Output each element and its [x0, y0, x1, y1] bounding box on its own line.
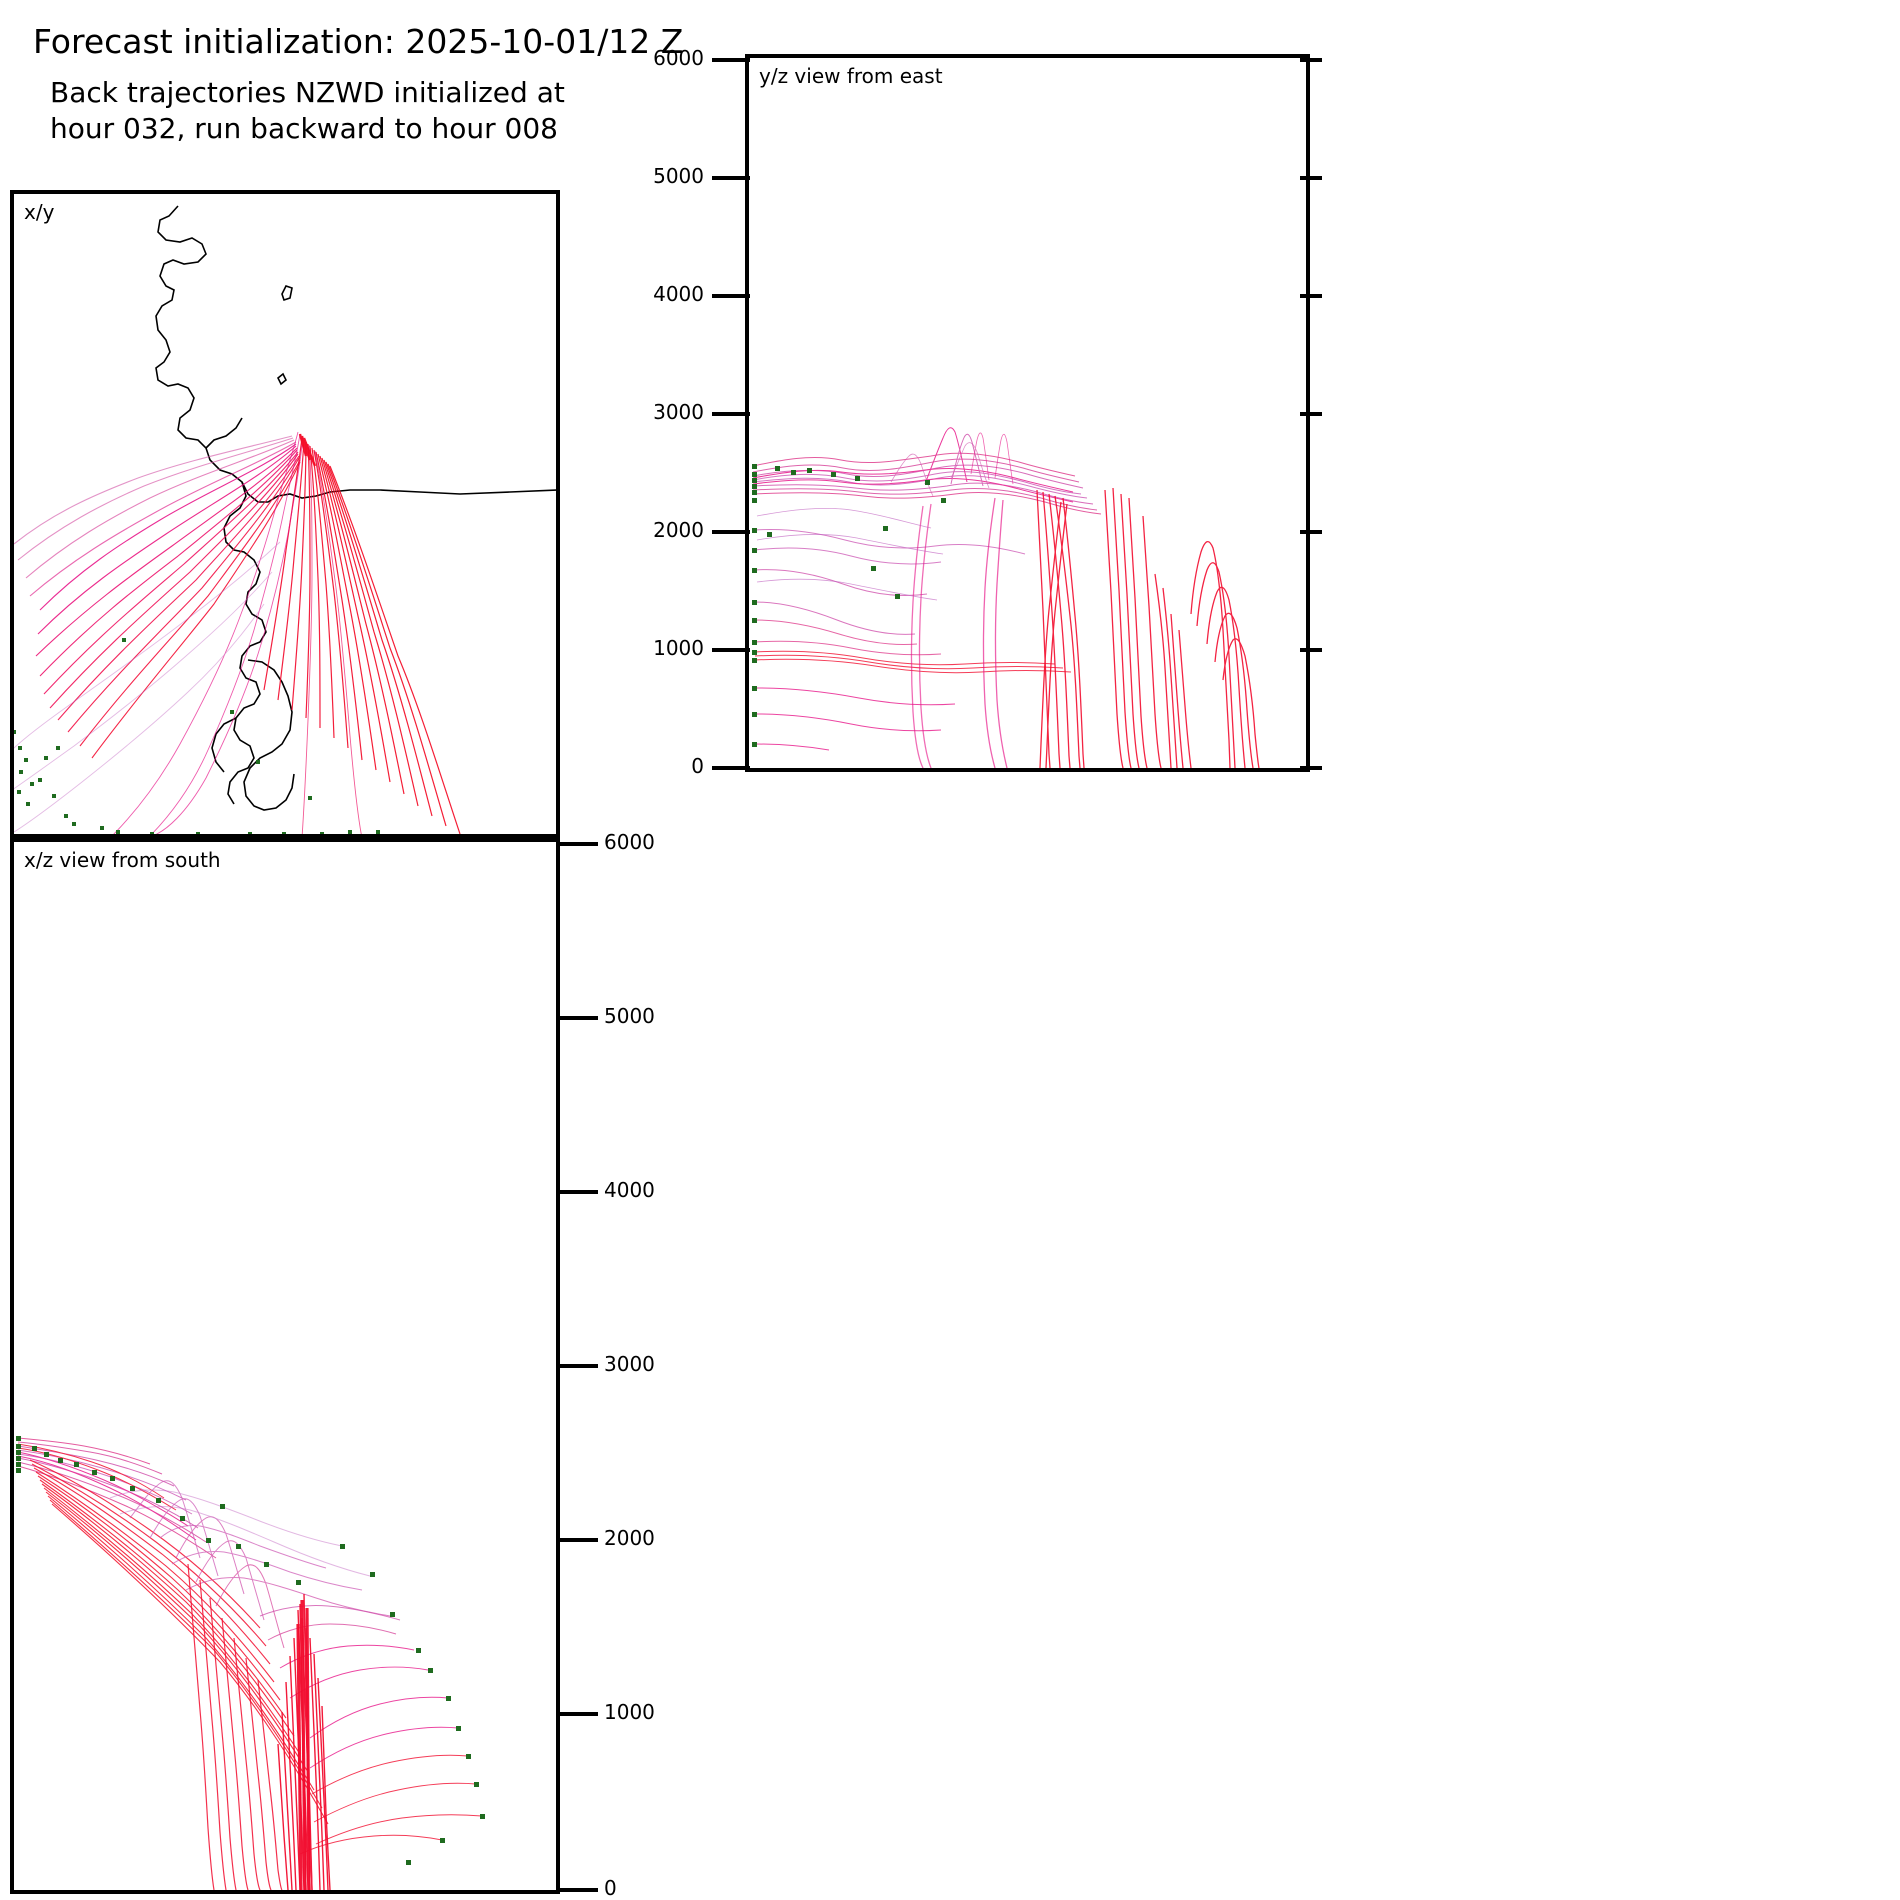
page-title: Forecast initialization: 2025-10-01/12 Z: [33, 22, 683, 61]
xz-tick-2000: [560, 1538, 598, 1542]
xz-ticklabel-3000: 3000: [604, 1352, 680, 1376]
xz-ticklabel-4000: 4000: [604, 1178, 680, 1202]
yz-tick-6000: [712, 58, 750, 62]
xz-ticklabel-0: 0: [604, 1876, 680, 1900]
xz-ticklabel-5000: 5000: [604, 1004, 680, 1028]
xz-tick-5000: [560, 1016, 598, 1020]
yz-ticklabel-0: 0: [620, 754, 704, 778]
yz-right-tick-2000: [1300, 530, 1322, 534]
yz-y-axis: 6000 5000 4000 3000 2000 1000 0: [620, 54, 750, 774]
xz-tick-3000: [560, 1364, 598, 1368]
yz-tick-3000: [712, 412, 750, 416]
yz-ticklabel-5000: 5000: [620, 164, 704, 188]
panel-yz-view-from-east[interactable]: y/z view from east: [745, 54, 1310, 772]
xz-y-axis: 6000 5000 4000 3000 2000 1000 0: [560, 838, 700, 1896]
panel-label-xy: x/y: [24, 200, 54, 224]
xz-ticklabel-1000: 1000: [604, 1700, 680, 1724]
xz-ticklabel-6000: 6000: [604, 830, 680, 854]
panel-label-xz: x/z view from south: [24, 848, 221, 872]
panel-label-yz: y/z view from east: [759, 64, 943, 88]
yz-right-tick-5000: [1300, 176, 1322, 180]
xz-tick-4000: [560, 1190, 598, 1194]
endpoint-markers: [12, 638, 380, 836]
panel-xz-view-from-south[interactable]: x/z view from south: [10, 838, 560, 1894]
yz-tick-2000: [712, 530, 750, 534]
panel-xy-plan-view[interactable]: x/y: [10, 190, 560, 838]
xz-tick-6000: [560, 842, 598, 846]
trajectory-bundle-southwest: [14, 436, 300, 758]
subtitle-line-1: Back trajectories NZWD initialized at: [50, 76, 565, 109]
yz-right-tick-0: [1300, 766, 1322, 770]
xz-tick-1000: [560, 1712, 598, 1716]
figure-canvas: Forecast initialization: 2025-10-01/12 Z…: [0, 0, 1900, 1900]
yz-tick-4000: [712, 294, 750, 298]
yz-tick-0: [712, 766, 750, 770]
subtitle-line-2: hour 032, run backward to hour 008: [50, 112, 558, 145]
yz-ticklabel-4000: 4000: [620, 282, 704, 306]
yz-upper-band: [753, 428, 1101, 514]
yz-wisps: [757, 433, 1013, 600]
xz-descending-bundle: [30, 1460, 328, 1824]
xy-trajectory-plot: [10, 190, 560, 838]
yz-right-tick-3000: [1300, 412, 1322, 416]
yz-tick-1000: [712, 648, 750, 652]
yz-plunge-structures: [912, 488, 1260, 768]
yz-right-tick-4000: [1300, 294, 1322, 298]
yz-ticklabel-3000: 3000: [620, 400, 704, 424]
yz-ticklabel-1000: 1000: [620, 636, 704, 660]
xz-trajectory-plot: [10, 838, 560, 1894]
yz-right-tick-6000: [1300, 58, 1322, 62]
xz-ticklabel-2000: 2000: [604, 1526, 680, 1550]
xz-surface-plunge-core: [298, 1600, 309, 1890]
xz-lofted-lines: [110, 1481, 390, 1648]
yz-ticklabel-2000: 2000: [620, 518, 704, 542]
xz-tick-0: [560, 1888, 598, 1892]
yz-right-tick-1000: [1300, 648, 1322, 652]
yz-tick-5000: [712, 176, 750, 180]
yz-trajectory-plot: [745, 54, 1310, 772]
yz-right-ticks: [1300, 54, 1330, 774]
yz-ticklabel-6000: 6000: [620, 46, 704, 70]
